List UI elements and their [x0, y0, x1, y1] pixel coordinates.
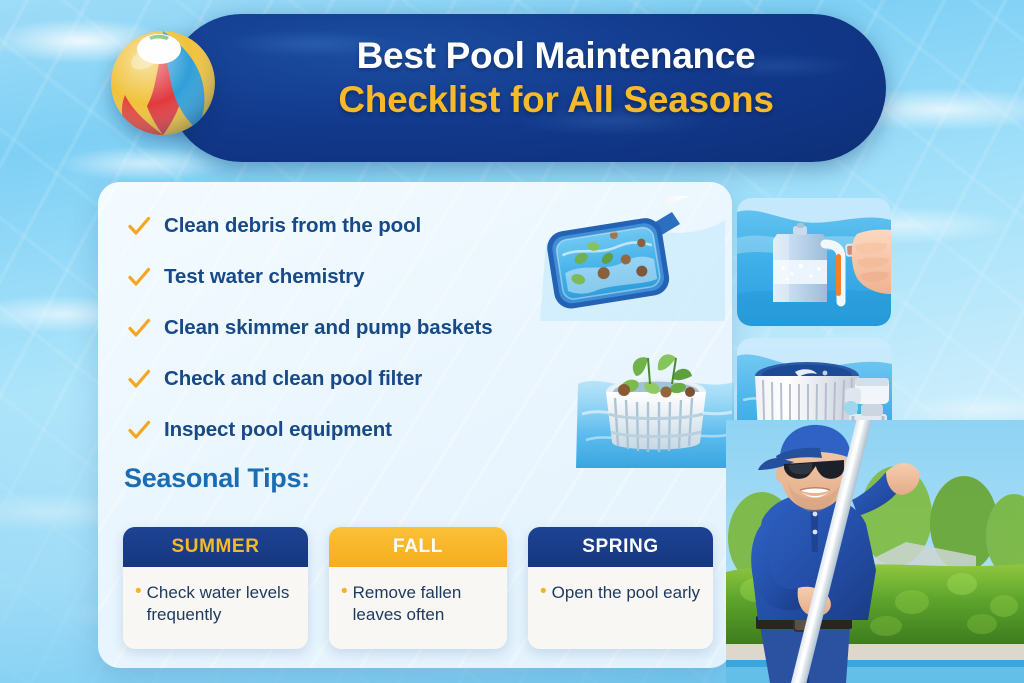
season-card-body: • Remove fallen leaves often — [329, 567, 507, 649]
infographic-poster: Best Pool Maintenance Checklist for All … — [0, 0, 1024, 683]
header-banner: Best Pool Maintenance Checklist for All … — [168, 14, 886, 162]
checkmark-icon — [124, 364, 154, 394]
season-card-tip: Open the pool early — [552, 582, 700, 632]
header-title-group: Best Pool Maintenance Checklist for All … — [250, 34, 862, 121]
season-card-title: SPRING — [582, 536, 658, 558]
skimmer-basket-illustration — [576, 340, 734, 468]
checkmark-icon — [124, 415, 154, 445]
beach-ball-icon — [111, 31, 215, 135]
maintenance-checklist: Clean debris from the pool Test water ch… — [124, 200, 594, 455]
checklist-item-label: Clean skimmer and pump baskets — [164, 316, 493, 340]
checkmark-icon — [124, 313, 154, 343]
checklist-item-label: Clean debris from the pool — [164, 214, 421, 238]
season-card-title: FALL — [393, 536, 443, 558]
checklist-item[interactable]: Clean skimmer and pump baskets — [124, 302, 594, 353]
checklist-item[interactable]: Inspect pool equipment — [124, 404, 594, 455]
checklist-item[interactable]: Test water chemistry — [124, 251, 594, 302]
checklist-item-label: Test water chemistry — [164, 265, 364, 289]
checkmark-icon — [124, 211, 154, 241]
season-card-fall[interactable]: FALL • Remove fallen leaves often — [329, 527, 507, 649]
season-card-title: SUMMER — [171, 536, 259, 558]
checkmark-icon — [124, 262, 154, 292]
checklist-item[interactable]: Clean debris from the pool — [124, 200, 594, 251]
checklist-item-label: Check and clean pool filter — [164, 367, 422, 391]
season-card-body: • Check water levels frequently — [123, 567, 308, 649]
checklist-item-label: Inspect pool equipment — [164, 418, 392, 442]
season-card-summer[interactable]: SUMMER • Check water levels frequently — [123, 527, 308, 649]
pool-technician-photo — [726, 420, 1024, 683]
seasonal-tips-cards: SUMMER • Check water levels frequently F… — [123, 527, 713, 649]
season-card-header: SPRING — [528, 527, 713, 567]
bullet-icon: • — [135, 582, 142, 632]
water-test-kit-illustration — [737, 198, 891, 326]
page-title-line-1: Best Pool Maintenance — [250, 34, 862, 78]
season-card-header: SUMMER — [123, 527, 308, 567]
checklist-item[interactable]: Check and clean pool filter — [124, 353, 594, 404]
season-card-tip: Remove fallen leaves often — [353, 582, 495, 632]
bullet-icon: • — [341, 582, 348, 632]
season-card-body: • Open the pool early — [528, 567, 713, 649]
season-card-header: FALL — [329, 527, 507, 567]
season-card-spring[interactable]: SPRING • Open the pool early — [528, 527, 713, 649]
season-card-tip: Check water levels frequently — [147, 582, 296, 632]
bullet-icon: • — [540, 582, 547, 632]
seasonal-tips-heading: Seasonal Tips: — [124, 463, 310, 494]
page-title-line-2: Checklist for All Seasons — [250, 78, 862, 122]
